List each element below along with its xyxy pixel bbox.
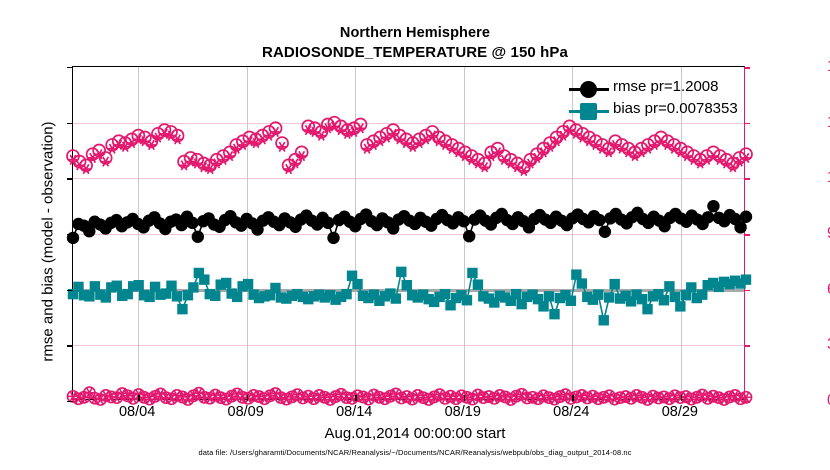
chart-root: Northern Hemisphere RADIOSONDE_TEMPERATU… bbox=[0, 0, 830, 470]
series-filled-square bbox=[68, 267, 751, 326]
legend-label-bias: bias pr=0.0078353 bbox=[613, 100, 738, 117]
y-tick-mark-right bbox=[744, 345, 750, 347]
x-tick-mark bbox=[355, 395, 356, 401]
y-tick-mark-left bbox=[67, 67, 73, 68]
y-tick-mark-left bbox=[67, 345, 73, 346]
x-tick-label: 08/29 bbox=[640, 404, 720, 420]
series-filled-circle bbox=[67, 200, 752, 244]
legend-label-rmse: rmse pr=1.2008 bbox=[613, 78, 718, 95]
x-tick-label: 08/09 bbox=[206, 404, 286, 420]
y-tick-mark-right bbox=[744, 178, 750, 180]
x-tick-mark bbox=[572, 395, 573, 401]
x-tick-mark bbox=[247, 395, 248, 401]
title-line-1: Northern Hemisphere bbox=[0, 24, 830, 43]
y-tick-mark-left bbox=[67, 290, 73, 291]
x-tick-mark bbox=[464, 395, 465, 401]
circle-marker-icon bbox=[580, 81, 597, 98]
chart-title: Northern Hemisphere RADIOSONDE_TEMPERATU… bbox=[0, 24, 830, 62]
y-tick-mark-right bbox=[744, 67, 750, 69]
y-tick-mark-left bbox=[67, 178, 73, 179]
square-marker-icon bbox=[580, 103, 597, 120]
y-tick-mark-left bbox=[67, 401, 73, 402]
x-tick-mark bbox=[681, 395, 682, 401]
legend-item-bias[interactable]: bias pr=0.0078353 bbox=[565, 100, 755, 122]
x-tick-label: 08/04 bbox=[97, 404, 177, 420]
x-tick-label: 08/19 bbox=[423, 404, 503, 420]
x-tick-label: 08/14 bbox=[314, 404, 394, 420]
data-file-footer: data file: /Users/gharamti/Documents/NCA… bbox=[0, 448, 830, 457]
chart-legend: rmse pr=1.2008 bias pr=0.0078353 bbox=[565, 78, 755, 122]
legend-item-rmse[interactable]: rmse pr=1.2008 bbox=[565, 78, 755, 100]
y-tick-mark-right bbox=[744, 123, 750, 125]
y-tick-mark-right bbox=[744, 234, 750, 236]
y-axis-left-label: rmse and bias (model - observation) bbox=[40, 72, 57, 412]
y-tick-mark-left bbox=[67, 234, 73, 235]
y-tick-mark-right bbox=[744, 401, 750, 403]
title-line-2: RADIOSONDE_TEMPERATURE @ 150 hPa bbox=[0, 43, 830, 62]
y-tick-mark-left bbox=[67, 123, 73, 124]
x-tick-mark bbox=[138, 395, 139, 401]
y-tick-mark-right bbox=[744, 290, 750, 292]
x-axis-label: Aug.01,2014 00:00:00 start bbox=[0, 425, 830, 442]
x-tick-label: 08/24 bbox=[531, 404, 611, 420]
series-open-circle-asterisk bbox=[67, 387, 751, 405]
